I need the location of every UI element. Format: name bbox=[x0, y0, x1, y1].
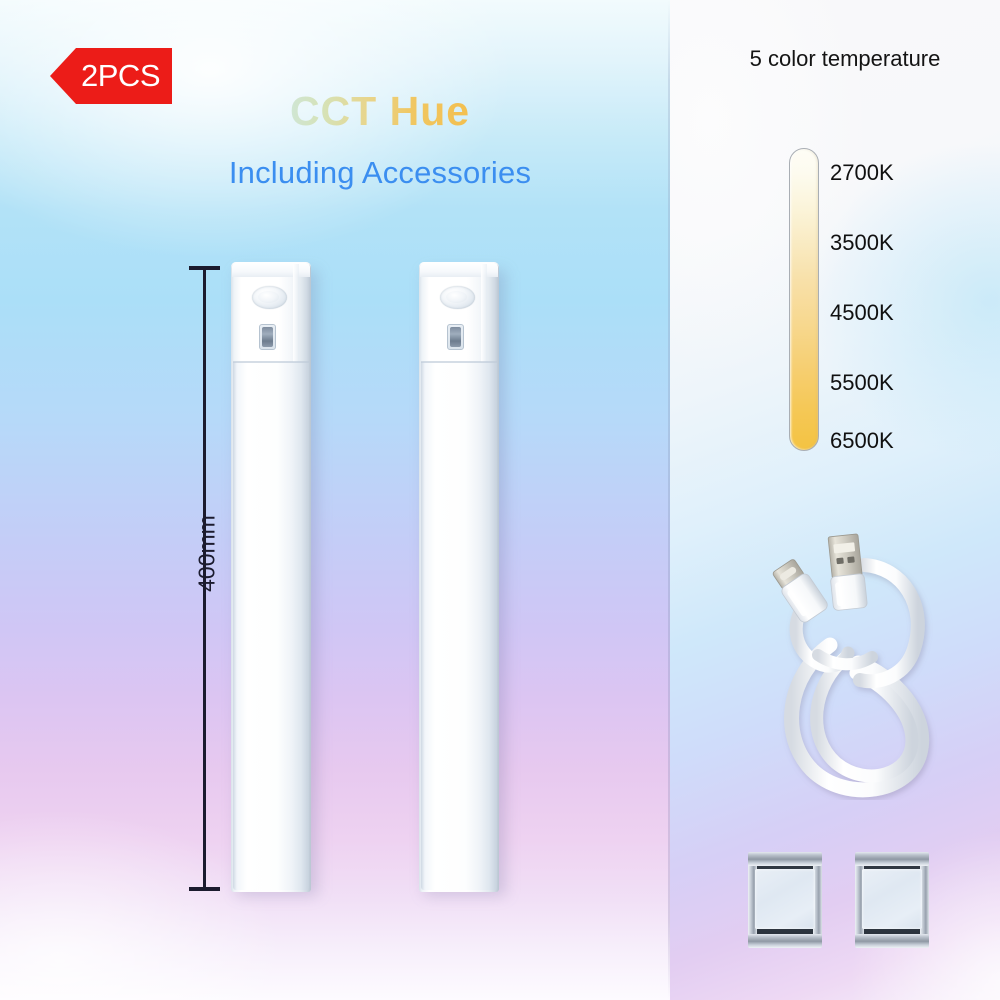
magnet-edge-bottom bbox=[748, 934, 822, 948]
pir-motion-sensor-lens bbox=[258, 291, 279, 303]
panel-divider bbox=[668, 0, 670, 1000]
light-bar-diffuser bbox=[421, 362, 497, 890]
pir-motion-sensor-lens bbox=[446, 291, 467, 303]
magnet-edge-top bbox=[855, 852, 929, 866]
color-temperature-label-3: 4500K bbox=[830, 300, 930, 326]
magnet-edge-top bbox=[748, 852, 822, 866]
led-light-bar-1 bbox=[231, 262, 311, 892]
light-bar-seam bbox=[421, 361, 497, 363]
dimension-label: 400mm bbox=[194, 499, 221, 609]
magnetic-mount-strip-1 bbox=[748, 850, 822, 948]
switch-port-face bbox=[262, 327, 273, 347]
quantity-badge-label: 2PCS bbox=[81, 58, 160, 94]
switch-port-face bbox=[450, 327, 461, 347]
dimension-cap-bottom bbox=[189, 887, 220, 891]
usb-c-connector bbox=[770, 557, 830, 625]
color-temperature-heading: 5 color temperature bbox=[700, 46, 990, 72]
color-temperature-gradient-bar bbox=[789, 148, 819, 451]
quantity-badge: 2PCS bbox=[50, 48, 172, 104]
light-bar-seam bbox=[233, 361, 309, 363]
color-temperature-label-list: 2700K3500K4500K5500K6500K bbox=[830, 148, 940, 453]
usb-charging-cable bbox=[760, 525, 945, 800]
left-panel-background bbox=[0, 0, 670, 1000]
light-bar-diffuser bbox=[233, 362, 309, 890]
product-image-canvas: 2PCS CCT Hue Including Accessories 400mm… bbox=[0, 0, 1000, 1000]
magnet-face bbox=[862, 869, 922, 929]
magnet-face bbox=[755, 869, 815, 929]
color-temperature-label-4: 5500K bbox=[830, 370, 930, 396]
led-light-bar-2 bbox=[419, 262, 499, 892]
page-subtitle: Including Accessories bbox=[170, 155, 590, 191]
magnet-edge-bottom bbox=[855, 934, 929, 948]
usb-cable-illustration bbox=[760, 525, 945, 800]
color-temperature-label-1: 2700K bbox=[830, 160, 930, 186]
page-title: CCT Hue bbox=[180, 88, 580, 135]
magnetic-mount-strip-2 bbox=[855, 850, 929, 948]
color-temperature-label-2: 3500K bbox=[830, 230, 930, 256]
color-temperature-label-5: 6500K bbox=[830, 428, 930, 454]
usb-a-connector bbox=[826, 534, 868, 611]
